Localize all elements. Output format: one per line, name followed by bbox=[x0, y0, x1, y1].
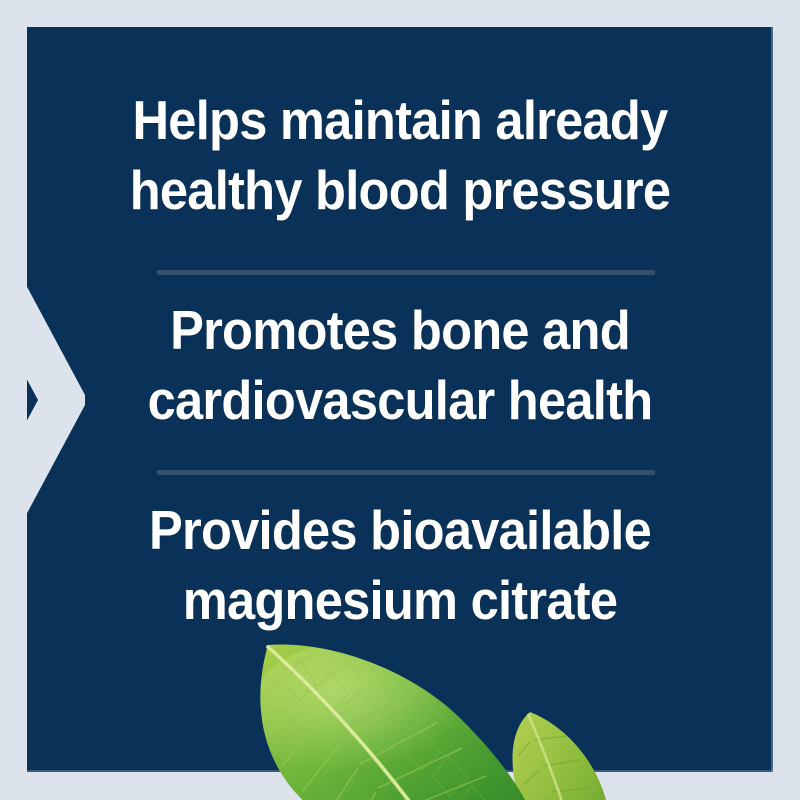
benefit-item-magnesium-citrate: Provides bioavailable magnesium citrate bbox=[57, 495, 743, 635]
benefit-item-bone-cardiovascular: Promotes bone and cardiovascular health bbox=[57, 295, 743, 435]
benefits-graphic: Helps maintain already healthy blood pre… bbox=[0, 0, 800, 800]
benefit-divider-2 bbox=[157, 470, 655, 475]
benefit-item-blood-pressure: Helps maintain already healthy blood pre… bbox=[57, 85, 743, 225]
benefit-divider-1 bbox=[157, 270, 655, 275]
benefits-list: Helps maintain already healthy blood pre… bbox=[27, 27, 773, 772]
